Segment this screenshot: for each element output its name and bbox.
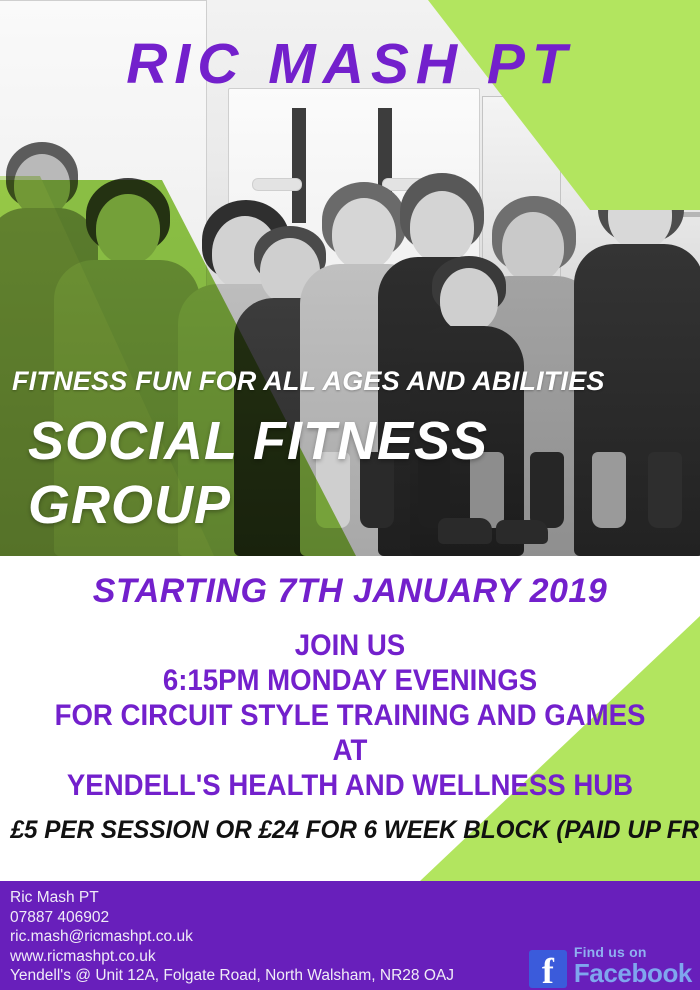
- detail-line-4: AT: [28, 733, 672, 768]
- facebook-badge[interactable]: f Find us on Facebook: [529, 945, 692, 988]
- detail-line-1: JOIN US: [28, 628, 672, 663]
- person-8-head: [608, 178, 672, 250]
- hero-headline-line2: GROUP: [28, 478, 231, 532]
- footer-email[interactable]: ric.mash@ricmashpt.co.uk: [10, 927, 454, 947]
- leg-e: [530, 452, 564, 528]
- session-details: JOIN US 6:15PM MONDAY EVENINGS FOR CIRCU…: [0, 628, 700, 803]
- footer-contact-details: Ric Mash PT 07887 406902 ric.mash@ricmas…: [10, 888, 454, 986]
- shoe-b: [496, 520, 548, 544]
- info-section: STARTING 7TH JANUARY 2019 JOIN US 6:15PM…: [0, 556, 700, 881]
- facebook-f-glyph: f: [529, 952, 567, 990]
- footer-contact-bar: Ric Mash PT 07887 406902 ric.mash@ricmas…: [0, 881, 700, 990]
- page-title: RIC MASH PT: [0, 36, 700, 93]
- detail-line-5: YENDELL'S HEALTH AND WELLNESS HUB: [28, 768, 672, 803]
- footer-address: Yendell's @ Unit 12A, Folgate Road, Nort…: [10, 966, 454, 986]
- poster: FITNESS FUN FOR ALL AGES AND ABILITIES S…: [0, 0, 700, 990]
- facebook-labels: Find us on Facebook: [574, 945, 692, 988]
- facebook-icon[interactable]: f: [529, 950, 567, 988]
- footer-website[interactable]: www.ricmashpt.co.uk: [10, 947, 454, 967]
- hero-headline-line1: SOCIAL FITNESS: [28, 414, 488, 468]
- hero-tagline: FITNESS FUN FOR ALL AGES AND ABILITIES: [12, 368, 688, 395]
- detail-line-3: FOR CIRCUIT STYLE TRAINING AND GAMES: [28, 698, 672, 733]
- leg-g: [648, 452, 682, 528]
- facebook-network-label: Facebook: [574, 960, 692, 987]
- detail-line-2: 6:15PM MONDAY EVENINGS: [28, 663, 672, 698]
- shoe-a: [438, 518, 492, 544]
- person-6-head: [410, 191, 474, 263]
- leg-f: [592, 452, 626, 528]
- person-9-head: [440, 268, 498, 332]
- footer-business-name: Ric Mash PT: [10, 888, 454, 908]
- footer-phone[interactable]: 07887 406902: [10, 908, 454, 928]
- pricing-line: £5 PER SESSION OR £24 FOR 6 WEEK BLOCK (…: [11, 818, 690, 843]
- starting-date: STARTING 7TH JANUARY 2019: [0, 574, 700, 608]
- person-2-head: [96, 194, 160, 264]
